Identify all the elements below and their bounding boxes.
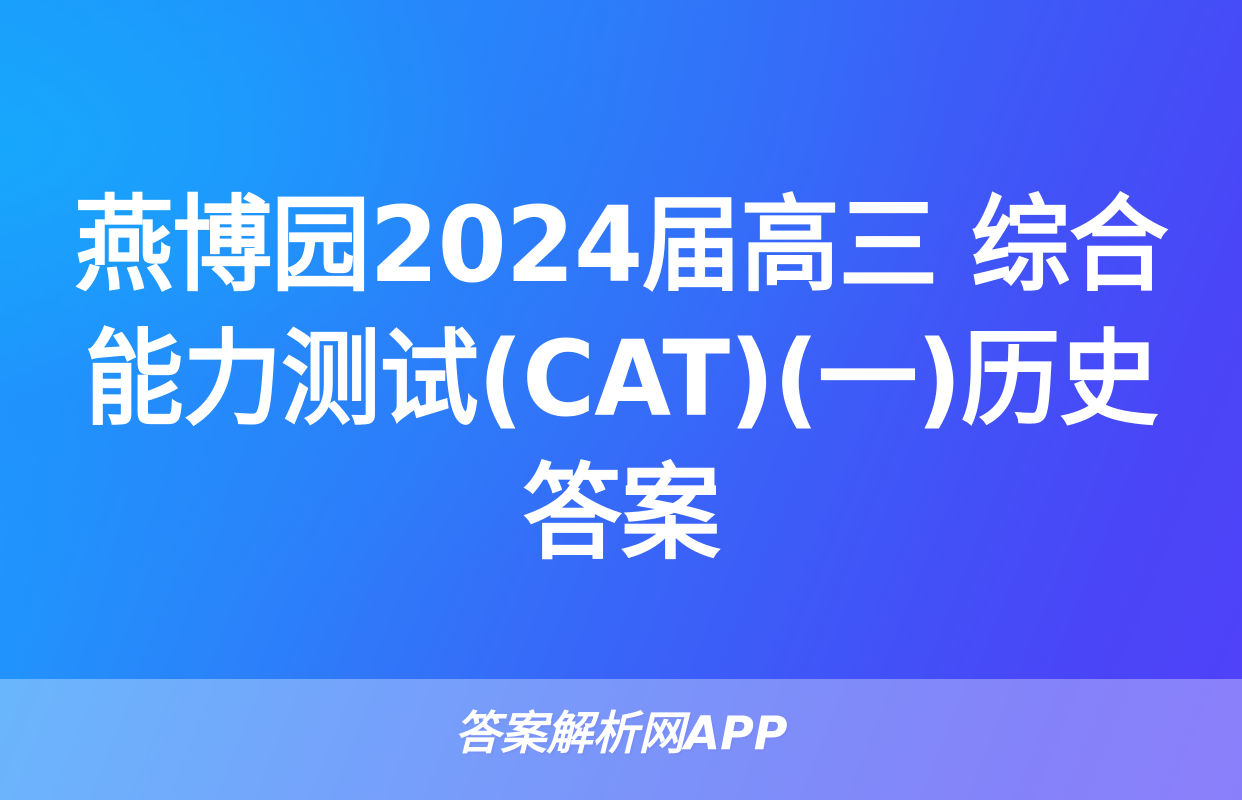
- title-block: 燕博园2024届高三 综合 能力测试(CAT)(一)历史 答案: [0, 178, 1242, 580]
- cover-card: 燕博园2024届高三 综合 能力测试(CAT)(一)历史 答案 答案解析网APP: [0, 0, 1242, 800]
- title-line-2: 能力测试(CAT)(一)历史: [51, 312, 1191, 446]
- watermark-text: 答案解析网APP: [0, 704, 1242, 762]
- title-line-3: 答案: [51, 446, 1191, 580]
- title-line-1: 燕博园2024届高三 综合: [51, 178, 1191, 312]
